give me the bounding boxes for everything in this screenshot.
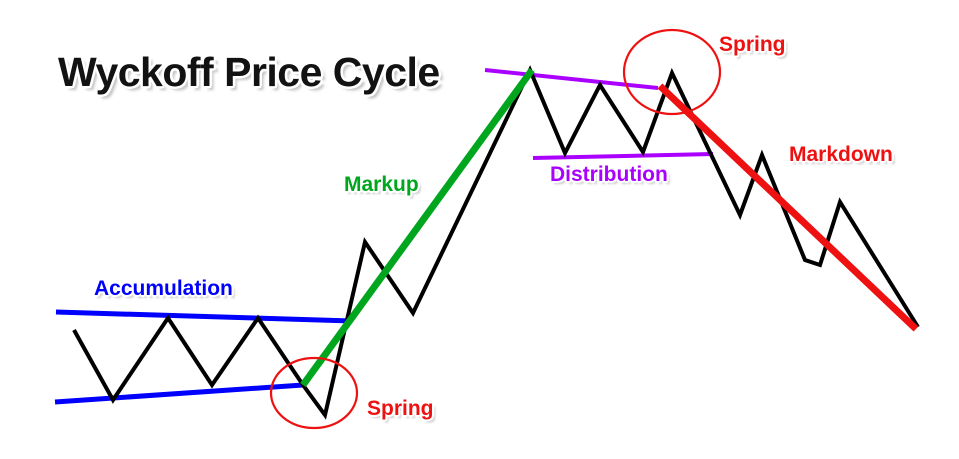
distribution-phase-label: Distribution — [550, 164, 668, 185]
markdown-phase-label: Markdown — [789, 144, 893, 165]
accumulation-support-line — [55, 385, 303, 402]
accumulation-resistance-line — [56, 312, 352, 321]
spring-label-accumulation: Spring — [367, 398, 434, 419]
markdown-trend-line — [660, 86, 916, 329]
wyckoff-price-cycle-diagram: Wyckoff Price Cycle Accumulation Markup … — [0, 0, 959, 459]
markup-phase-label: Markup — [344, 174, 419, 195]
distribution-resistance-line — [485, 70, 658, 88]
distribution-support-line — [533, 154, 713, 158]
accumulation-phase-label: Accumulation — [94, 278, 233, 299]
page-title: Wyckoff Price Cycle — [58, 52, 440, 93]
markup-trend-line — [303, 70, 532, 385]
spring-label-distribution: Spring — [719, 34, 786, 55]
